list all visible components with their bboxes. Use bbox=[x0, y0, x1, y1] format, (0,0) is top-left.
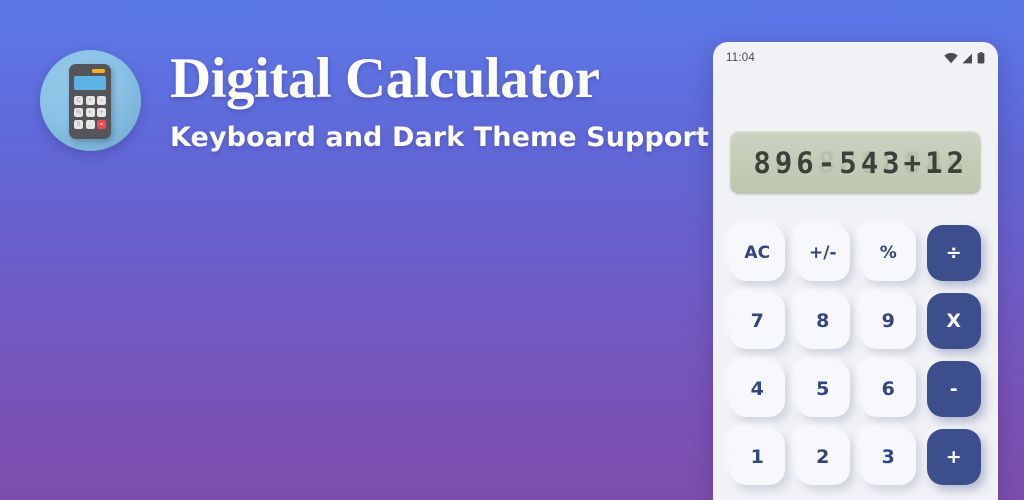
icon-key-4: × bbox=[86, 108, 95, 117]
status-clock: 11:04 bbox=[726, 52, 755, 64]
battery-icon bbox=[977, 52, 985, 64]
key-multiply[interactable]: X bbox=[927, 293, 982, 349]
key-digit-5[interactable]: 5 bbox=[796, 361, 851, 417]
key-sign-toggle[interactable]: +/- bbox=[796, 225, 851, 281]
calculator-display: 8888888888 896-543+12 bbox=[730, 131, 981, 194]
promo-banner: C + – % × + 0 . = Digital Calculator Key… bbox=[0, 0, 1024, 500]
key-digit-7[interactable]: 7 bbox=[730, 293, 785, 349]
keypad-row: 789X bbox=[730, 293, 981, 349]
key-digit-6[interactable]: 6 bbox=[861, 361, 916, 417]
calculator-illustration-body: C + – % × + 0 . = bbox=[69, 64, 111, 139]
icon-key-equals: = bbox=[97, 120, 106, 129]
icon-key-0: C bbox=[74, 96, 83, 105]
icon-key-2: – bbox=[97, 96, 106, 105]
key-digit-1[interactable]: 1 bbox=[730, 429, 785, 485]
page-subtitle: Keyboard and Dark Theme Support bbox=[170, 122, 709, 153]
status-bar: 11:04 bbox=[713, 42, 998, 74]
key-subtract[interactable]: - bbox=[927, 361, 982, 417]
key-divide[interactable]: ÷ bbox=[927, 225, 982, 281]
key-digit-8[interactable]: 8 bbox=[796, 293, 851, 349]
key-all-clear[interactable]: AC bbox=[730, 225, 785, 281]
calculator-illustration-screen bbox=[74, 76, 106, 90]
key-digit-3[interactable]: 3 bbox=[861, 429, 916, 485]
icon-key-6: 0 bbox=[74, 120, 83, 129]
wifi-icon bbox=[944, 53, 958, 64]
icon-key-3: % bbox=[74, 108, 83, 117]
signal-icon bbox=[962, 53, 973, 64]
app-icon: C + – % × + 0 . = bbox=[40, 50, 141, 151]
icon-key-1: + bbox=[86, 96, 95, 105]
key-percent[interactable]: % bbox=[861, 225, 916, 281]
icon-key-7: . bbox=[86, 120, 95, 129]
key-digit-9[interactable]: 9 bbox=[861, 293, 916, 349]
status-icons bbox=[944, 52, 985, 64]
display-value: 896-543+12 bbox=[753, 146, 968, 180]
calculator-keypad: AC+/-%÷789X456-123+ bbox=[730, 225, 981, 485]
phone-mockup: 11:04 8888888888 896-543+12 AC+/-%÷789X4… bbox=[713, 42, 998, 500]
key-digit-2[interactable]: 2 bbox=[796, 429, 851, 485]
solar-strip-icon bbox=[92, 69, 105, 73]
keypad-row: 123+ bbox=[730, 429, 981, 485]
key-add[interactable]: + bbox=[927, 429, 982, 485]
keypad-row: AC+/-%÷ bbox=[730, 225, 981, 281]
page-title: Digital Calculator bbox=[170, 46, 600, 111]
keypad-row: 456- bbox=[730, 361, 981, 417]
icon-key-5: + bbox=[97, 108, 106, 117]
key-digit-4[interactable]: 4 bbox=[730, 361, 785, 417]
